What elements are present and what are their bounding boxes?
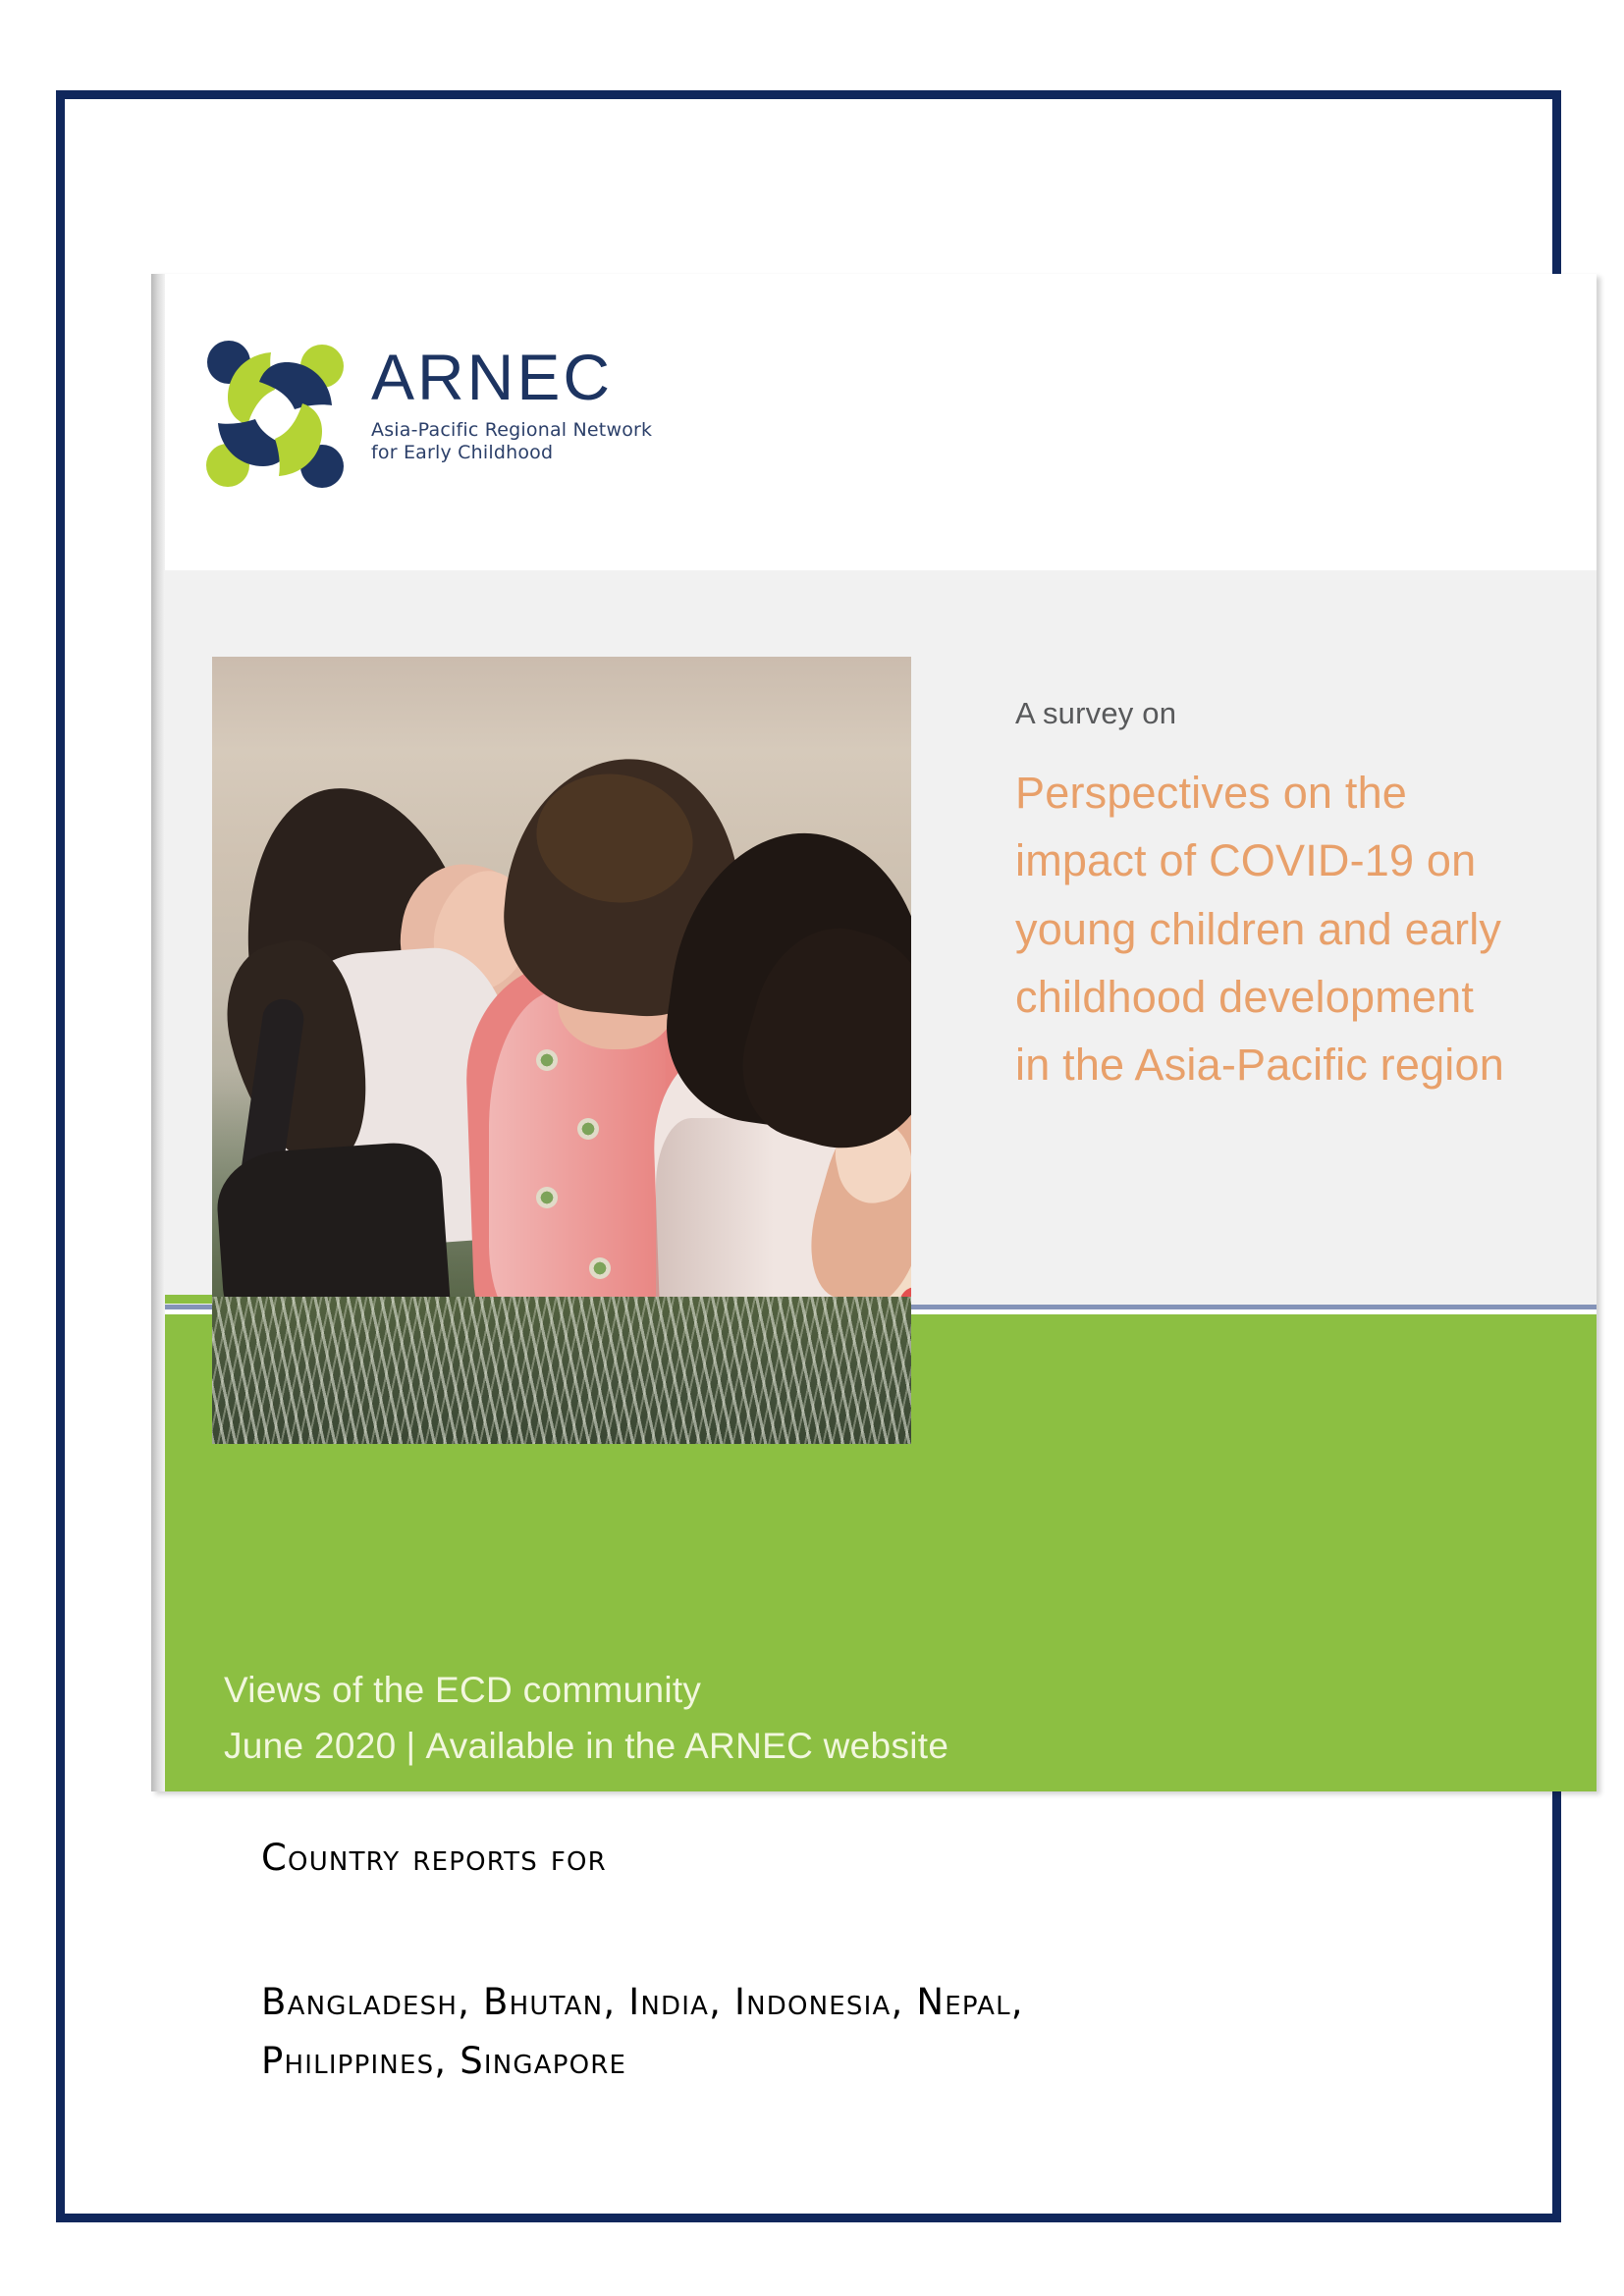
brand-tagline-line2: for Early Childhood — [371, 442, 652, 464]
logo-header: ARNEC Asia-Pacific Regional Network for … — [165, 274, 1597, 570]
report-heading: Country reports for — [261, 1837, 1489, 1879]
cover-content-block: ARNEC Asia-Pacific Regional Network for … — [151, 274, 1597, 1791]
green-band-text: Views of the ECD community June 2020|Ava… — [224, 1662, 948, 1775]
cover-photo — [212, 657, 911, 1444]
title-line: young children and early — [1015, 895, 1585, 963]
brand-name: ARNEC — [371, 345, 652, 409]
cover-page: ARNEC Asia-Pacific Regional Network for … — [0, 0, 1624, 2296]
title-line: childhood development — [1015, 963, 1585, 1031]
arnec-pinwheel-logo-icon — [202, 337, 348, 494]
dress-flower — [589, 1257, 611, 1279]
page-title: Perspectives on the impact of COVID-19 o… — [1015, 759, 1585, 1098]
country-report-section: Country reports for Bangladesh, Bhutan, … — [261, 1837, 1489, 2091]
availability-text: Available in the ARNEC website — [425, 1726, 948, 1766]
publication-line: June 2020|Available in the ARNEC website — [224, 1718, 948, 1774]
ecd-community-line: Views of the ECD community — [224, 1662, 948, 1718]
dress-flower — [536, 1187, 558, 1208]
title-line: impact of COVID-19 on — [1015, 827, 1585, 894]
separator: | — [397, 1726, 426, 1766]
logo-text: ARNEC Asia-Pacific Regional Network for … — [371, 329, 652, 464]
page-border-frame: ARNEC Asia-Pacific Regional Network for … — [56, 90, 1561, 2222]
dress-flower — [577, 1118, 599, 1140]
country-list-line: Philippines, Singapore — [261, 2032, 1489, 2091]
survey-kicker: A survey on — [1015, 696, 1585, 731]
arnec-logo: ARNEC Asia-Pacific Regional Network for … — [202, 329, 652, 494]
brand-tagline: Asia-Pacific Regional Network for Early … — [371, 419, 652, 464]
report-country-list: Bangladesh, Bhutan, India, Indonesia, Ne… — [261, 1973, 1489, 2091]
brand-tagline-line1: Asia-Pacific Regional Network — [371, 419, 652, 442]
photo-grass-foreground — [212, 1297, 911, 1444]
country-list-line: Bangladesh, Bhutan, India, Indonesia, Ne… — [261, 1973, 1489, 2032]
dress-flower — [536, 1049, 558, 1071]
cover-title-block: A survey on Perspectives on the impact o… — [1015, 696, 1585, 1098]
publication-date: June 2020 — [224, 1726, 397, 1766]
title-line: in the Asia-Pacific region — [1015, 1031, 1585, 1098]
title-line: Perspectives on the — [1015, 759, 1585, 827]
